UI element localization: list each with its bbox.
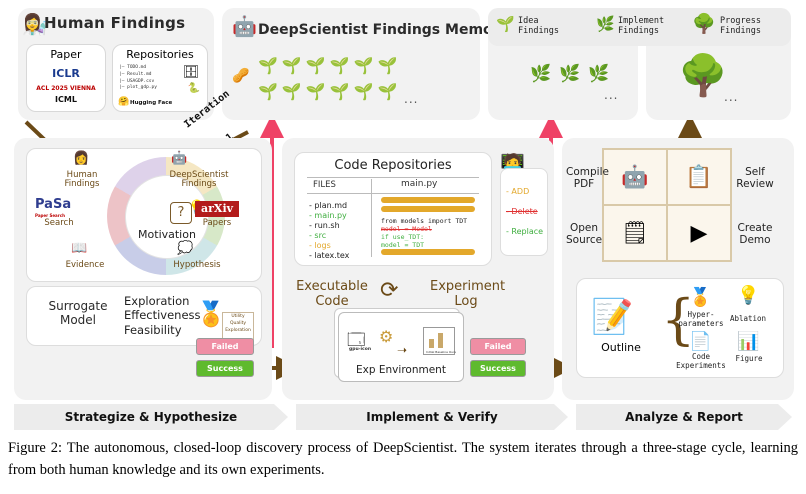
memory-title: DeepScientist Findings Memory bbox=[258, 22, 509, 38]
edit-op-add: - ADD bbox=[506, 187, 529, 196]
file-latex-tex: - latex.tex bbox=[309, 251, 349, 260]
code-line-import: from models import TDT bbox=[381, 217, 467, 225]
code-line-assign: model = TDT bbox=[381, 241, 424, 249]
human-thought-icon: 👩 bbox=[73, 151, 89, 166]
code-exp-l2: Experiments bbox=[673, 362, 729, 371]
quad-open-source: 🗒 bbox=[603, 205, 667, 261]
refresh-cycle-icon: ⟳ bbox=[380, 278, 398, 303]
seedling-icon: 🌱 bbox=[282, 82, 302, 101]
repo-file-todo: |— TODO.md bbox=[119, 65, 157, 72]
stage1-failed-badge: Failed bbox=[196, 338, 254, 355]
divider bbox=[307, 177, 479, 178]
criterion-exploration: Exploration bbox=[124, 294, 201, 308]
legend-progress-line2: Findings bbox=[720, 27, 761, 37]
repositories-card: Repositories |— TODO.md |— Result.md |— … bbox=[112, 44, 208, 112]
divider bbox=[307, 193, 479, 194]
wheel-label-evidence: Evidence bbox=[53, 261, 117, 270]
hyper-l2: parameters bbox=[677, 320, 725, 329]
acl-logo: ACL 2025 VIENNA bbox=[27, 85, 105, 92]
gear-icon: ⚙ bbox=[379, 327, 393, 346]
stage1-success-badge: Success bbox=[196, 360, 254, 377]
bar-chart-icon: 📊 bbox=[737, 331, 759, 352]
code-line-deleted: model = Model bbox=[381, 225, 432, 233]
icml-logo: ICML bbox=[27, 95, 105, 104]
seedling-icon: 🌱 bbox=[378, 82, 398, 101]
memory-seedling-row-1: 🌱🌱🌱🌱🌱🌱 bbox=[258, 56, 398, 75]
medal-line-exploration: Exploration bbox=[223, 328, 253, 335]
medal-icon: 🏅 bbox=[689, 287, 711, 308]
file-run-sh: - run.sh bbox=[309, 221, 340, 230]
opensource-l2: Source bbox=[566, 234, 602, 246]
quad-create-demo: ▶ bbox=[667, 205, 731, 261]
mainpy-column-header: main.py bbox=[401, 179, 437, 189]
sprout-icon: 🌿 bbox=[530, 64, 551, 84]
legend-implement-line2: Findings bbox=[618, 27, 664, 37]
tree-icon: 🌳 bbox=[692, 12, 716, 35]
file-main-py: - main.py bbox=[309, 211, 347, 220]
wheel-ds-l2: Findings bbox=[161, 180, 237, 189]
sprout-icon: 🌿 bbox=[559, 64, 580, 84]
seedling-icon: 🌱 bbox=[354, 56, 374, 75]
bar-chart-icon: Initial Baseline Ours bbox=[423, 327, 455, 355]
edit-op-delete: - Delete bbox=[506, 207, 538, 216]
divider bbox=[371, 179, 372, 257]
tree-icon: 🌳 bbox=[678, 52, 728, 99]
repo-file-result: |— Result.md bbox=[119, 72, 157, 79]
report-outline-card: 📝 Outline { 🏅 Hyper- parameters 💡 Ablati… bbox=[576, 278, 784, 378]
implement-sprout-row: 🌿🌿🌿 bbox=[530, 64, 610, 84]
ribbon-stage-implement: Implement & Verify bbox=[296, 404, 568, 430]
seedling-icon: 🌱 bbox=[306, 56, 326, 75]
seedling-icon: 🌱 bbox=[258, 82, 278, 101]
seedling-icon: 🌱 bbox=[330, 56, 350, 75]
code-placeholder-bar bbox=[381, 249, 475, 255]
executable-code-label: ExecutableCode bbox=[296, 280, 368, 310]
seedling-icon: 🌱 bbox=[496, 15, 515, 33]
memory-ellipsis: ... bbox=[404, 92, 418, 106]
report-quadrants: 🤖 📋 🗒 ▶ bbox=[602, 148, 732, 262]
robot-clipboard-icon: 📋 bbox=[685, 165, 712, 190]
surrogate-model-label: SurrogateModel bbox=[36, 300, 120, 328]
opensource-l1: Open bbox=[566, 222, 602, 234]
code-placeholder-bar bbox=[381, 206, 475, 212]
file-src: - src bbox=[309, 231, 326, 240]
report-item-code-experiments: Code Experiments bbox=[673, 353, 729, 370]
figure-root: 👩‍🔬 Human Findings Paper ICLR ACL 2025 V… bbox=[0, 0, 806, 494]
criterion-effectiveness: Effectiveness bbox=[124, 308, 201, 322]
surrogate-criteria: Exploration Effectiveness Feasibility bbox=[124, 294, 201, 337]
stage2-success-badge: Success bbox=[470, 360, 526, 377]
report-item-figure: Figure bbox=[729, 355, 769, 364]
stage2-failed-badge: Failed bbox=[470, 338, 526, 355]
medal-line-utility: Utility bbox=[223, 314, 253, 321]
robot-thought-icon: 🤖 bbox=[171, 151, 187, 166]
wheel-label-human: Human Findings bbox=[55, 171, 109, 190]
compile-l1: Compile bbox=[566, 166, 602, 178]
robot-icon: 🤖 bbox=[232, 14, 257, 38]
compile-l2: PDF bbox=[566, 178, 602, 190]
paper-search-icon: PaSa bbox=[35, 197, 71, 212]
quad-label-create-demo: Create Demo bbox=[734, 222, 776, 246]
quad-label-compile-pdf: Compile PDF bbox=[566, 166, 602, 190]
server-icon: 🗄 bbox=[182, 65, 199, 80]
gpu-label: gpu-icon bbox=[349, 347, 371, 352]
seedling-icon: 🌱 bbox=[330, 82, 350, 101]
legend-item-idea: Idea Findings bbox=[518, 17, 559, 37]
createdemo-l2: Demo bbox=[734, 234, 776, 246]
memory-seedling-row-2: 🌱🌱🌱🌱🌱🌱 bbox=[258, 82, 398, 101]
legend-idea-line2: Findings bbox=[518, 27, 559, 37]
report-item-ablation: Ablation bbox=[725, 315, 771, 324]
selfreview-l2: Review bbox=[734, 178, 776, 190]
robot-presentation-icon: 🗒 bbox=[621, 221, 649, 246]
figure-caption: Figure 2: The autonomous, closed-loop di… bbox=[8, 438, 798, 482]
idea-monitor-icon: 💡 bbox=[737, 285, 759, 306]
experiment-log-label: ExperimentLog bbox=[430, 280, 502, 310]
arxiv-icon: arXiv bbox=[195, 201, 239, 217]
file-logs: - logs bbox=[309, 241, 331, 250]
selfreview-l1: Self bbox=[734, 166, 776, 178]
note-pencil-icon: 📄 bbox=[689, 331, 711, 352]
edit-operations-card: - ADD - Delete - Replace bbox=[500, 168, 548, 256]
hugging-face-label: Hugging Face bbox=[130, 100, 172, 106]
quad-compile-pdf: 🤖 bbox=[603, 149, 667, 205]
motivation-label: Motivation bbox=[126, 228, 208, 241]
ribbon-stage-strategize: Strategize & Hypothesize bbox=[14, 404, 288, 430]
files-column-header: FILES bbox=[313, 180, 336, 190]
seedling-icon: 🌱 bbox=[258, 56, 278, 75]
hugging-face-icon: 🤗 bbox=[118, 97, 129, 107]
medal-criteria-card: Utility Quality Exploration bbox=[222, 312, 254, 341]
seedling-icon: 🌱 bbox=[282, 56, 302, 75]
hypothesis-icon: 💭 bbox=[177, 241, 193, 256]
code-repositories-title: Code Repositories bbox=[295, 158, 491, 173]
medal-line-quality: Quality bbox=[223, 321, 253, 328]
wheel-label-search: Search bbox=[31, 219, 87, 228]
wheel-label-hypothesis: Hypothesis bbox=[161, 261, 233, 270]
iclr-logo: ICLR bbox=[27, 67, 105, 80]
edit-op-replace: - Replace bbox=[506, 227, 543, 236]
wheel-label-deepscientist: DeepScientist Findings bbox=[161, 171, 237, 190]
book-desk-icon: 📖 bbox=[71, 241, 87, 256]
exp-environment-card: 🗔 gpu-icon ⚙ ➝ Initial Baseline Ours Exp… bbox=[338, 312, 464, 382]
report-item-hyperparameters: Hyper- parameters bbox=[677, 311, 725, 328]
code-line-if: if use_TDT: bbox=[381, 233, 424, 241]
repositories-title: Repositories bbox=[113, 48, 207, 61]
ribbon-stage-analyze: Analyze & Report bbox=[576, 404, 792, 430]
wheel-human-l2: Findings bbox=[55, 180, 109, 189]
document-pencil-icon: 📝 bbox=[591, 297, 633, 337]
human-findings-title: Human Findings bbox=[44, 14, 185, 32]
arrow-icon: ➝ bbox=[397, 343, 407, 357]
createdemo-l1: Create bbox=[734, 222, 776, 234]
progress-ellipsis: ... bbox=[724, 90, 738, 104]
python-icon: 🐍 bbox=[188, 83, 200, 94]
paper-title: Paper bbox=[27, 48, 105, 61]
criterion-feasibility: Feasibility bbox=[124, 323, 201, 337]
seed-icon: 🥜 bbox=[232, 68, 249, 84]
quad-label-open-source: Open Source bbox=[566, 222, 602, 246]
sprout-icon: 🌿 bbox=[596, 15, 615, 33]
wheel-label-papers: Papers bbox=[195, 219, 239, 228]
stage-ribbon: Strategize & Hypothesize Implement & Ver… bbox=[14, 404, 792, 430]
outline-label: Outline bbox=[583, 341, 659, 354]
seedling-icon: 🌱 bbox=[378, 56, 398, 75]
seedling-icon: 🌱 bbox=[354, 82, 374, 101]
repo-file-plotgdp: |— plot_gdp.py bbox=[119, 85, 157, 92]
legend-item-implement: Implement Findings bbox=[618, 17, 664, 37]
code-placeholder-bar bbox=[381, 197, 475, 203]
motivation-wheel-card: ? 💡 Motivation 👩 Human Findings 🤖 DeepSc… bbox=[26, 148, 262, 282]
sprout-icon: 🌿 bbox=[588, 64, 609, 84]
seedling-icon: 🌱 bbox=[306, 82, 326, 101]
robot-pdf-icon: 🤖 bbox=[621, 165, 648, 190]
robot-video-icon: ▶ bbox=[691, 221, 708, 246]
paper-card: Paper ICLR ACL 2025 VIENNA ICML bbox=[26, 44, 106, 112]
quad-label-self-review: Self Review bbox=[734, 166, 776, 190]
exp-environment-label: Exp Environment bbox=[339, 364, 463, 376]
implement-ellipsis: ... bbox=[604, 88, 618, 102]
file-plan-md: - plan.md bbox=[309, 201, 347, 210]
quad-self-review: 📋 bbox=[667, 149, 731, 205]
code-repositories-card: Code Repositories FILES main.py - plan.m… bbox=[294, 152, 492, 266]
legend-item-progress: Progress Findings bbox=[720, 17, 761, 37]
